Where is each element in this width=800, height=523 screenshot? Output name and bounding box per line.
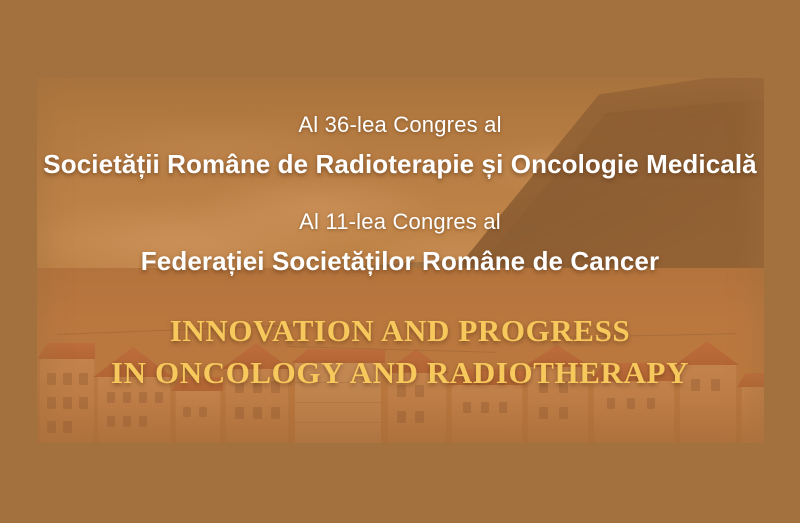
congress-secondary-organization: Federației Societăților Române de Cancer — [141, 247, 659, 277]
congress-banner: Al 36-lea Congres al Societății Române d… — [0, 0, 800, 523]
congress-main-organization: Societății Române de Radioterapie și Onc… — [43, 150, 756, 180]
congress-secondary-ordinal: Al 11-lea Congres al — [299, 210, 501, 234]
headline-line-1: INNOVATION AND PROGRESS — [170, 310, 631, 352]
congress-main-ordinal: Al 36-lea Congres al — [298, 113, 501, 137]
headline-line-2: IN ONCOLOGY AND RADIOTHERAPY — [111, 352, 689, 394]
banner-text-stack: Al 36-lea Congres al Societății Române d… — [0, 0, 800, 523]
